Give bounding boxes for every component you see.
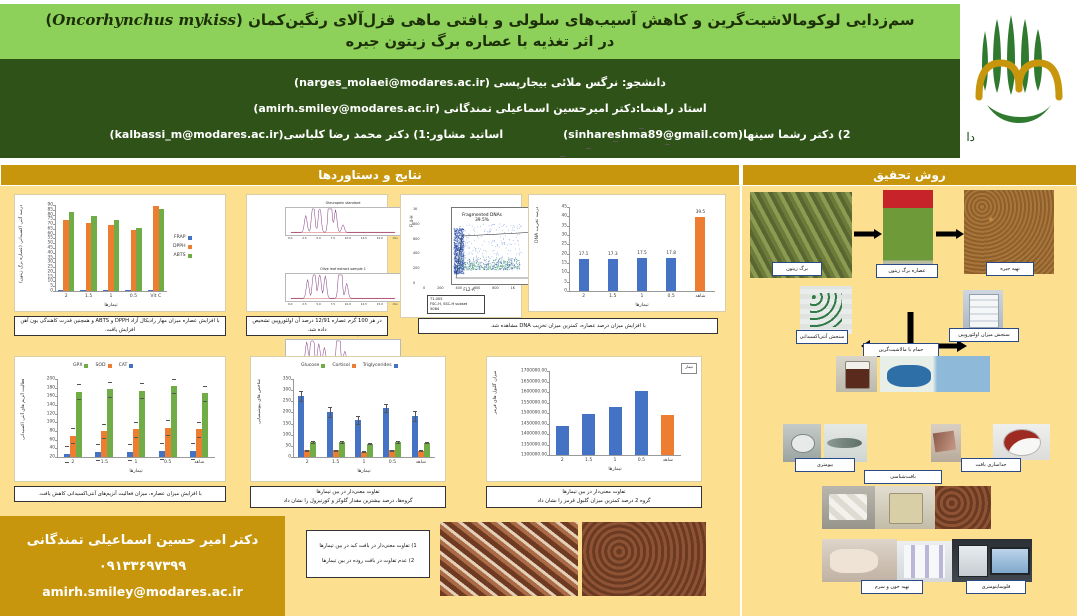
flow-cytometer-photo (952, 539, 1032, 582)
bar-abts-Vit C (159, 209, 165, 291)
caption-line-1: تفاوت معنی‌دار در بین تیمارها (562, 488, 625, 497)
x-tick: 1K (511, 286, 515, 290)
legend-swatch (321, 364, 325, 368)
hplc-instrument-photo (963, 290, 1003, 330)
y-tick: 100 (283, 432, 291, 437)
advisor-1-line: اساتید مشاور:1) دکتر محمد رضا کلباسی(kal… (110, 128, 504, 141)
x-tick: 10.0 (345, 302, 351, 306)
error-cap (172, 393, 176, 394)
y-tick-mark (291, 379, 293, 380)
y-axis-label: شاخص های بیوشیمیایی (257, 379, 262, 457)
x-tick: 400 (455, 286, 461, 290)
y-tick-mark (53, 272, 55, 273)
x-axis-label: min (393, 302, 398, 306)
legend-swatch (188, 236, 192, 240)
y-tick-mark (53, 234, 55, 235)
y-tick-mark (55, 414, 57, 415)
error-cap (71, 443, 75, 444)
x-axis (549, 455, 681, 456)
arrow-right-icon-2 (936, 228, 964, 240)
error-cap (108, 397, 112, 398)
poster-title: سم‌زدایی لوکومالاشیت‌گرین و کاهش آسیب‌ها… (0, 4, 960, 59)
method-label-diet: تهیه جیره (986, 262, 1034, 276)
legend-item-cortisol: Cortisol (332, 363, 355, 368)
caption-text: در هر 100 گرم عصاره 12/91 درصد آن اولئور… (249, 317, 385, 335)
y-tick-mark (53, 262, 55, 263)
error-cap (362, 452, 366, 453)
bar-glucose-1.5 (339, 442, 345, 457)
bar-gpx-1 (139, 391, 145, 457)
caption-line-1: تفاوت معنی‌دار در بین تیمارها (316, 488, 379, 497)
y-tick: 1550000.00 (521, 400, 547, 405)
poster-root: سم‌زدایی لوکومالاشیت‌گرین و کاهش آسیب‌ها… (0, 0, 1077, 616)
error-cap (140, 383, 144, 384)
y-tick-mark (53, 253, 55, 254)
x-tick: 5.0 (316, 302, 320, 306)
y-tick-mark (53, 224, 55, 225)
fragmented-dna-annotation: Fragmented DNAs39.5% (453, 213, 511, 224)
method-label-olive-leaf: برگ زیتون (772, 262, 822, 276)
tissue-petri-photo (993, 424, 1050, 460)
error-cap (356, 416, 360, 417)
x-tick: 1.5 (85, 294, 92, 299)
x-tick: 1 (110, 294, 113, 299)
chart-antioxidant-capacity: FRAPDPPHABTS0510152025303540455055606570… (14, 194, 226, 312)
y-tick: 200 (413, 266, 419, 270)
blood-sampling-photo (822, 539, 897, 582)
y-tick-mark (55, 396, 57, 397)
x-tick: 12.5 (361, 302, 367, 306)
chart-red-blood-cells: 1700000.001650000.001600000.001550000.00… (486, 356, 702, 482)
svg-text:دانشگاه تربیت مدرس: دانشگاه تربیت مدرس (967, 130, 975, 144)
y-tick-mark (55, 448, 57, 449)
caption-line-2: گروه 2 درصد کمترین میزان گلبول قرمز را ن… (537, 497, 650, 506)
bar-triglycerides-2 (298, 396, 304, 457)
x-tick: 10.0 (345, 236, 351, 240)
x-tick: 0.5 (638, 458, 645, 463)
y-tick: 1300000.00 (521, 453, 547, 458)
y-tick: 1450000.00 (521, 421, 547, 426)
bar-1.5 (582, 414, 595, 455)
x-tick: 1 (641, 294, 644, 299)
error-cap (191, 443, 195, 444)
error-cap (65, 462, 69, 463)
x-tick: شاهد (663, 458, 673, 463)
y-tick-mark (547, 424, 549, 425)
bar-2 (579, 259, 589, 291)
histology-note-1: 1) تفاوت معنی‌دار در بافت کبد در بین تیم… (319, 542, 416, 551)
y-axis (57, 379, 58, 457)
y-tick-mark (55, 440, 57, 441)
x-tick: 0.5 (164, 460, 171, 465)
bar-value-label: 17.3 (608, 252, 618, 257)
y-axis (549, 371, 550, 455)
y-tick-mark (53, 286, 55, 287)
error-cap (419, 451, 423, 452)
y-tick-mark (53, 229, 55, 230)
y-tick-mark (567, 282, 569, 283)
error-cap (197, 437, 201, 438)
y-tick-mark (567, 291, 569, 292)
x-tick: 800 (492, 286, 498, 290)
error-cap (102, 424, 106, 425)
university-logo: دانشگاه تربیت مدرس (960, 0, 1077, 160)
error-cap (172, 379, 176, 380)
error-cap (665, 144, 670, 145)
chromatogram-panel-1: Oleuropein standard0.02.55.07.510.012.51… (285, 207, 401, 236)
chromatogram-xticks-2: 0.02.55.07.510.012.515.0min (286, 302, 400, 306)
author-block: دانشجو: نرگس ملائی بیجارپسی (narges_mola… (0, 59, 960, 158)
legend-swatch (352, 364, 356, 368)
error-cap (328, 417, 332, 418)
legend-label: CAT (119, 363, 128, 368)
x-tick: 0.0 (288, 236, 292, 240)
legend-label: Cortisol (332, 363, 349, 368)
chromatogram-panel-2: Olive leaf extract sample 10.02.55.07.51… (285, 273, 401, 302)
y-tick: 200 (283, 410, 291, 415)
y-axis (293, 379, 294, 457)
x-axis-label: تیمارها (55, 303, 167, 308)
y-tick-mark (291, 435, 293, 436)
error-cap (128, 460, 132, 461)
error-cap (305, 451, 309, 452)
legend-item-sod: SOD (95, 363, 111, 368)
legend-swatch (84, 364, 88, 368)
x-axis-label: تیمارها (57, 469, 215, 474)
y-tick-mark (53, 248, 55, 249)
error-cap (197, 422, 201, 423)
y-tick: 350 (283, 377, 291, 382)
y-tick: 1700000.00 (521, 369, 547, 374)
x-tick: 2 (561, 458, 564, 463)
y-tick-mark (567, 207, 569, 208)
section-header-results: نتایج و دستاوردها (0, 164, 740, 186)
legend-item-frap: FRAP (174, 235, 192, 240)
bar-شاهد (695, 217, 705, 291)
y-tick-mark (291, 424, 293, 425)
y-axis-label: فعالیت آنزیم های آنتی اکسیدانی (21, 379, 26, 457)
chart-hplc-chromatograms: Oleuropein standard0.02.55.07.510.012.51… (246, 194, 388, 312)
x-tick: 2.5 (302, 302, 306, 306)
x-tick: 1.5 (609, 294, 616, 299)
chromatogram-title-2: Olive leaf extract sample 1 (286, 267, 400, 271)
y-tick-mark (567, 254, 569, 255)
bar-1 (609, 407, 622, 455)
y-axis-label: درصد آنتی اکسیدانی (عصاره برگ زیتون) (19, 205, 24, 291)
error-bar (386, 404, 387, 413)
legend-item-abts: ABTS (174, 253, 192, 258)
poster-header: سم‌زدایی لوکومالاشیت‌گرین و کاهش آسیب‌ها… (0, 0, 1077, 160)
y-tick: 200 (47, 377, 55, 382)
y-tick-mark (547, 392, 549, 393)
y-tick-mark (567, 272, 569, 273)
metadata-line: 5084 (430, 307, 482, 312)
legend-swatch (129, 364, 133, 368)
y-tick: 1350000.00 (521, 442, 547, 447)
serum-tubes-photo (897, 541, 952, 582)
error-cap (134, 437, 138, 438)
bar-value-label: 17.1 (579, 252, 589, 257)
method-label-extract: عصاره برگ زیتون (876, 264, 938, 278)
y-tick-mark (291, 401, 293, 402)
y-tick-mark (547, 413, 549, 414)
y-tick-mark (53, 243, 55, 244)
microplate-photo (800, 286, 852, 334)
bar-value-label: 17.5 (637, 251, 647, 256)
contact-phone: ۰۹۱۳۳۶۹۷۳۹۹ (99, 559, 186, 574)
legend-label: FRAP (174, 235, 186, 240)
caption-dna-damage: با افزایش میزان درصد عصاره، کمترین میزان… (418, 318, 718, 334)
y-tick-mark (53, 210, 55, 211)
x-tick: 5.0 (316, 236, 320, 240)
bar-glucose-1 (367, 444, 373, 457)
legend-label: Triglycerides (363, 363, 392, 368)
x-tick: 0.0 (288, 302, 292, 306)
chart-flow-cytometry: Fragmented DNAs39.5%FL2-AFL4-H0200400600… (400, 194, 522, 318)
error-cap (65, 446, 69, 447)
caption-text: با افزایش میزان درصد عصاره، کمترین میزان… (490, 322, 646, 331)
legend-label: ABTS (174, 253, 186, 258)
error-cap (299, 401, 303, 402)
histology-microtome-photo (875, 486, 935, 529)
y-tick-mark (547, 403, 549, 404)
tissue-dissection-photo (931, 424, 961, 462)
fragmented-dna-value: 39.5% (475, 218, 489, 223)
method-label-malachite-bath: حمام با مالاشیت‌گرین (863, 343, 939, 357)
x-tick: 1 (363, 460, 366, 465)
method-panel: برگ زیتون عصاره برگ زیتون تهیه جیره سنجش… (742, 186, 1077, 616)
legend-item-glucose: Glucose (301, 363, 325, 368)
x-tick: 200 (437, 286, 443, 290)
chart-legend: FRAPDPPHABTS (173, 235, 192, 258)
histology-slide-photo (935, 486, 991, 529)
student-line: دانشجو: نرگس ملائی بیجارپسی (narges_mola… (0, 76, 960, 89)
y-tick: 250 (283, 399, 291, 404)
bar-0.5 (666, 258, 676, 291)
y-tick: 800 (413, 222, 419, 226)
error-cap (328, 407, 332, 408)
y-tick-mark (55, 379, 57, 380)
section-header-method: روش تحقیق (742, 164, 1077, 186)
y-tick-mark (547, 382, 549, 383)
bar-abts-2 (69, 212, 75, 291)
olive-extract-jar-photo (883, 190, 933, 272)
y-tick-mark (547, 371, 549, 372)
contact-name: دکتر امیر حسین اسماعیلی تمندگانی (27, 533, 259, 548)
caption-text: با افزایش عصاره میزان مهار رادیکال آزاد … (17, 317, 223, 335)
biometry-fish-photo (824, 424, 867, 462)
error-bar (358, 416, 359, 424)
legend-swatch (188, 245, 192, 249)
y-tick-mark (53, 238, 55, 239)
biometry-scale-photo (783, 424, 821, 462)
y-tick-mark (567, 263, 569, 264)
caption-red-blood-cells: تفاوت معنی‌دار در بین تیمارها گروه 2 درص… (486, 486, 702, 508)
y-tick: 1500000.00 (521, 411, 547, 416)
y-axis-label: درصد تخریب DNA (535, 207, 540, 291)
x-tick: 15.0 (377, 302, 383, 306)
x-tick: 1 (614, 458, 617, 463)
error-cap (560, 156, 565, 157)
y-tick-mark (53, 215, 55, 216)
error-cap (128, 444, 132, 445)
y-tick-mark (567, 216, 569, 217)
x-tick: شاهد (194, 460, 204, 465)
caption-antioxidant-capacity: با افزایش عصاره میزان مهار رادیکال آزاد … (14, 316, 226, 336)
y-tick: 600 (413, 237, 419, 241)
y-tick: 1400000.00 (521, 432, 547, 437)
legend-item-cat: CAT (119, 363, 134, 368)
y-tick-mark (53, 291, 55, 292)
x-tick: Vit C (150, 294, 161, 299)
x-tick: 0.5 (130, 294, 137, 299)
y-tick: 150 (283, 421, 291, 426)
chart-legend: TriglyceridesCortisolGlucose (301, 363, 398, 368)
error-cap (102, 438, 106, 439)
y-tick: 1K (413, 207, 419, 211)
error-cap (203, 401, 207, 402)
error-cap (299, 391, 303, 392)
x-axis (55, 291, 167, 292)
caption-biochemical: تفاوت معنی‌دار در بین تیمارها گروه‌ها، د… (250, 486, 446, 508)
contact-footer: دکتر امیر حسین اسماعیلی تمندگانی ۰۹۱۳۳۶۹… (0, 516, 285, 616)
legend-swatch (108, 364, 112, 368)
y-axis (55, 205, 56, 291)
bar-0.5 (635, 391, 648, 455)
y-tick-mark (291, 457, 293, 458)
caption-text: با افزایش میزان عصاره، میزان فعالیت آنزی… (38, 490, 201, 499)
x-tick: 0.5 (389, 460, 396, 465)
error-cap (77, 384, 81, 385)
x-tick: 2.5 (302, 236, 306, 240)
error-cap (311, 443, 315, 444)
contact-email[interactable]: amirh.smiley@modares.ac.ir (42, 584, 243, 599)
x-tick: 2 (65, 294, 68, 299)
y-tick-mark (567, 244, 569, 245)
y-tick-mark (567, 226, 569, 227)
method-label-antioxidant-assay: سنجش آنتی‌اکسیدانی (796, 330, 848, 344)
malachite-green-bath-photo (880, 356, 990, 392)
x-tick: 0.5 (668, 294, 675, 299)
x-axis (57, 457, 215, 458)
method-label-flow-cytometry: فلوسایتومتری (966, 580, 1026, 594)
error-cap (396, 443, 400, 444)
y-tick-mark (53, 205, 55, 206)
intestine-histology-image (440, 522, 578, 596)
bar-gpx-0.5 (171, 386, 177, 457)
legend-item-gpx: GPX (73, 363, 88, 368)
legend-item-dpph: DPPH (173, 244, 192, 249)
legend-item-triglycerides: Triglycerides (363, 363, 398, 368)
bar-2 (556, 426, 569, 455)
y-tick-mark (55, 431, 57, 432)
y-tick: 180 (47, 385, 55, 390)
x-axis-label: تیمارها (549, 467, 681, 472)
bar-gpx-1.5 (107, 389, 113, 457)
y-tick: 100 (47, 420, 55, 425)
bar-1 (637, 258, 647, 291)
chromatogram-title-1: Oleuropein standard (286, 201, 400, 205)
x-tick: 1.5 (101, 460, 108, 465)
chart-dna-damage: 051015202530354045درصد تخریب DNA17.1217.… (528, 194, 726, 312)
caption-hplc: در هر 100 گرم عصاره 12/91 درصد آن اولئور… (246, 316, 388, 336)
histology-notes: 1) تفاوت معنی‌دار در بافت کبد در بین تیم… (306, 530, 430, 578)
legend-swatch (394, 364, 398, 368)
y-tick: 1600000.00 (521, 390, 547, 395)
x-tick: 1.5 (585, 458, 592, 463)
x-ticks: 02004006008001K (423, 286, 515, 290)
error-cap (340, 443, 344, 444)
x-tick: 0 (423, 286, 425, 290)
y-tick-mark (55, 388, 57, 389)
y-ticks: 02004006008001K (413, 207, 419, 285)
legend-label: SOD (95, 363, 105, 368)
error-cap (356, 424, 360, 425)
x-tick: 15.0 (377, 236, 383, 240)
method-label-blood-serum: تهیه خون و سرم (861, 580, 923, 594)
bar-شاهد (661, 415, 674, 455)
y-tick: 140 (47, 403, 55, 408)
x-axis (293, 457, 435, 458)
method-label-tissue-sampling: جداسازی بافت (961, 458, 1021, 472)
legend-label: GPX (73, 363, 82, 368)
error-cap (384, 412, 388, 413)
error-cap (413, 421, 417, 422)
error-cap (134, 422, 138, 423)
y-tick: 400 (413, 251, 419, 255)
y-tick-mark (291, 390, 293, 391)
bar-abts-1.5 (91, 216, 97, 291)
bar-abts-1 (114, 220, 120, 291)
y-tick-mark (55, 457, 57, 458)
x-axis (569, 291, 715, 292)
bar-glucose-2 (310, 442, 316, 457)
error-cap (613, 141, 618, 142)
y-axis-label: میزان گلبول های قرمز (493, 371, 498, 455)
bar-value-label: 17.8 (666, 251, 676, 256)
y-tick: 0 (413, 281, 419, 285)
x-tick: 2 (71, 460, 74, 465)
legend-label: DPPH (173, 244, 186, 249)
x-tick: شاهد (416, 460, 426, 465)
bar-abts-0.5 (136, 228, 142, 291)
error-cap (639, 128, 644, 129)
bar-gpx-2 (76, 392, 82, 457)
histology-note-2: 2) عدم تفاوت در بافت روده در بین تیمارها (322, 557, 414, 566)
error-cap (96, 444, 100, 445)
x-tick: 1.5 (332, 460, 339, 465)
error-bar (415, 411, 416, 421)
error-cap (203, 386, 207, 387)
caption-line-2: گروه‌ها، درصد بیشترین مقدار گلوکز و کورت… (284, 497, 413, 506)
caption-antioxidant-enzymes: با افزایش میزان عصاره، میزان فعالیت آنزی… (14, 486, 226, 502)
liver-histology-image (582, 522, 706, 596)
y-tick: 120 (47, 411, 55, 416)
bar-value-label: 39.5 (696, 210, 706, 215)
y-tick-mark (53, 267, 55, 268)
histology-cassette-photo (822, 486, 875, 529)
x-tick: شاهد (695, 294, 705, 299)
y-tick: 300 (283, 388, 291, 393)
bar-glucose-0.5 (395, 442, 401, 457)
y-tick-mark (55, 405, 57, 406)
title-species-name: Oncorhynchus mykiss (52, 11, 236, 29)
x-tick: 7.5 (331, 302, 335, 306)
y-tick-mark (53, 219, 55, 220)
error-cap (108, 382, 112, 383)
advisor-2-line: 2) دکتر رشما سینها(sinhareshma89@gmail.c… (563, 128, 850, 141)
x-tick: 600 (474, 286, 480, 290)
